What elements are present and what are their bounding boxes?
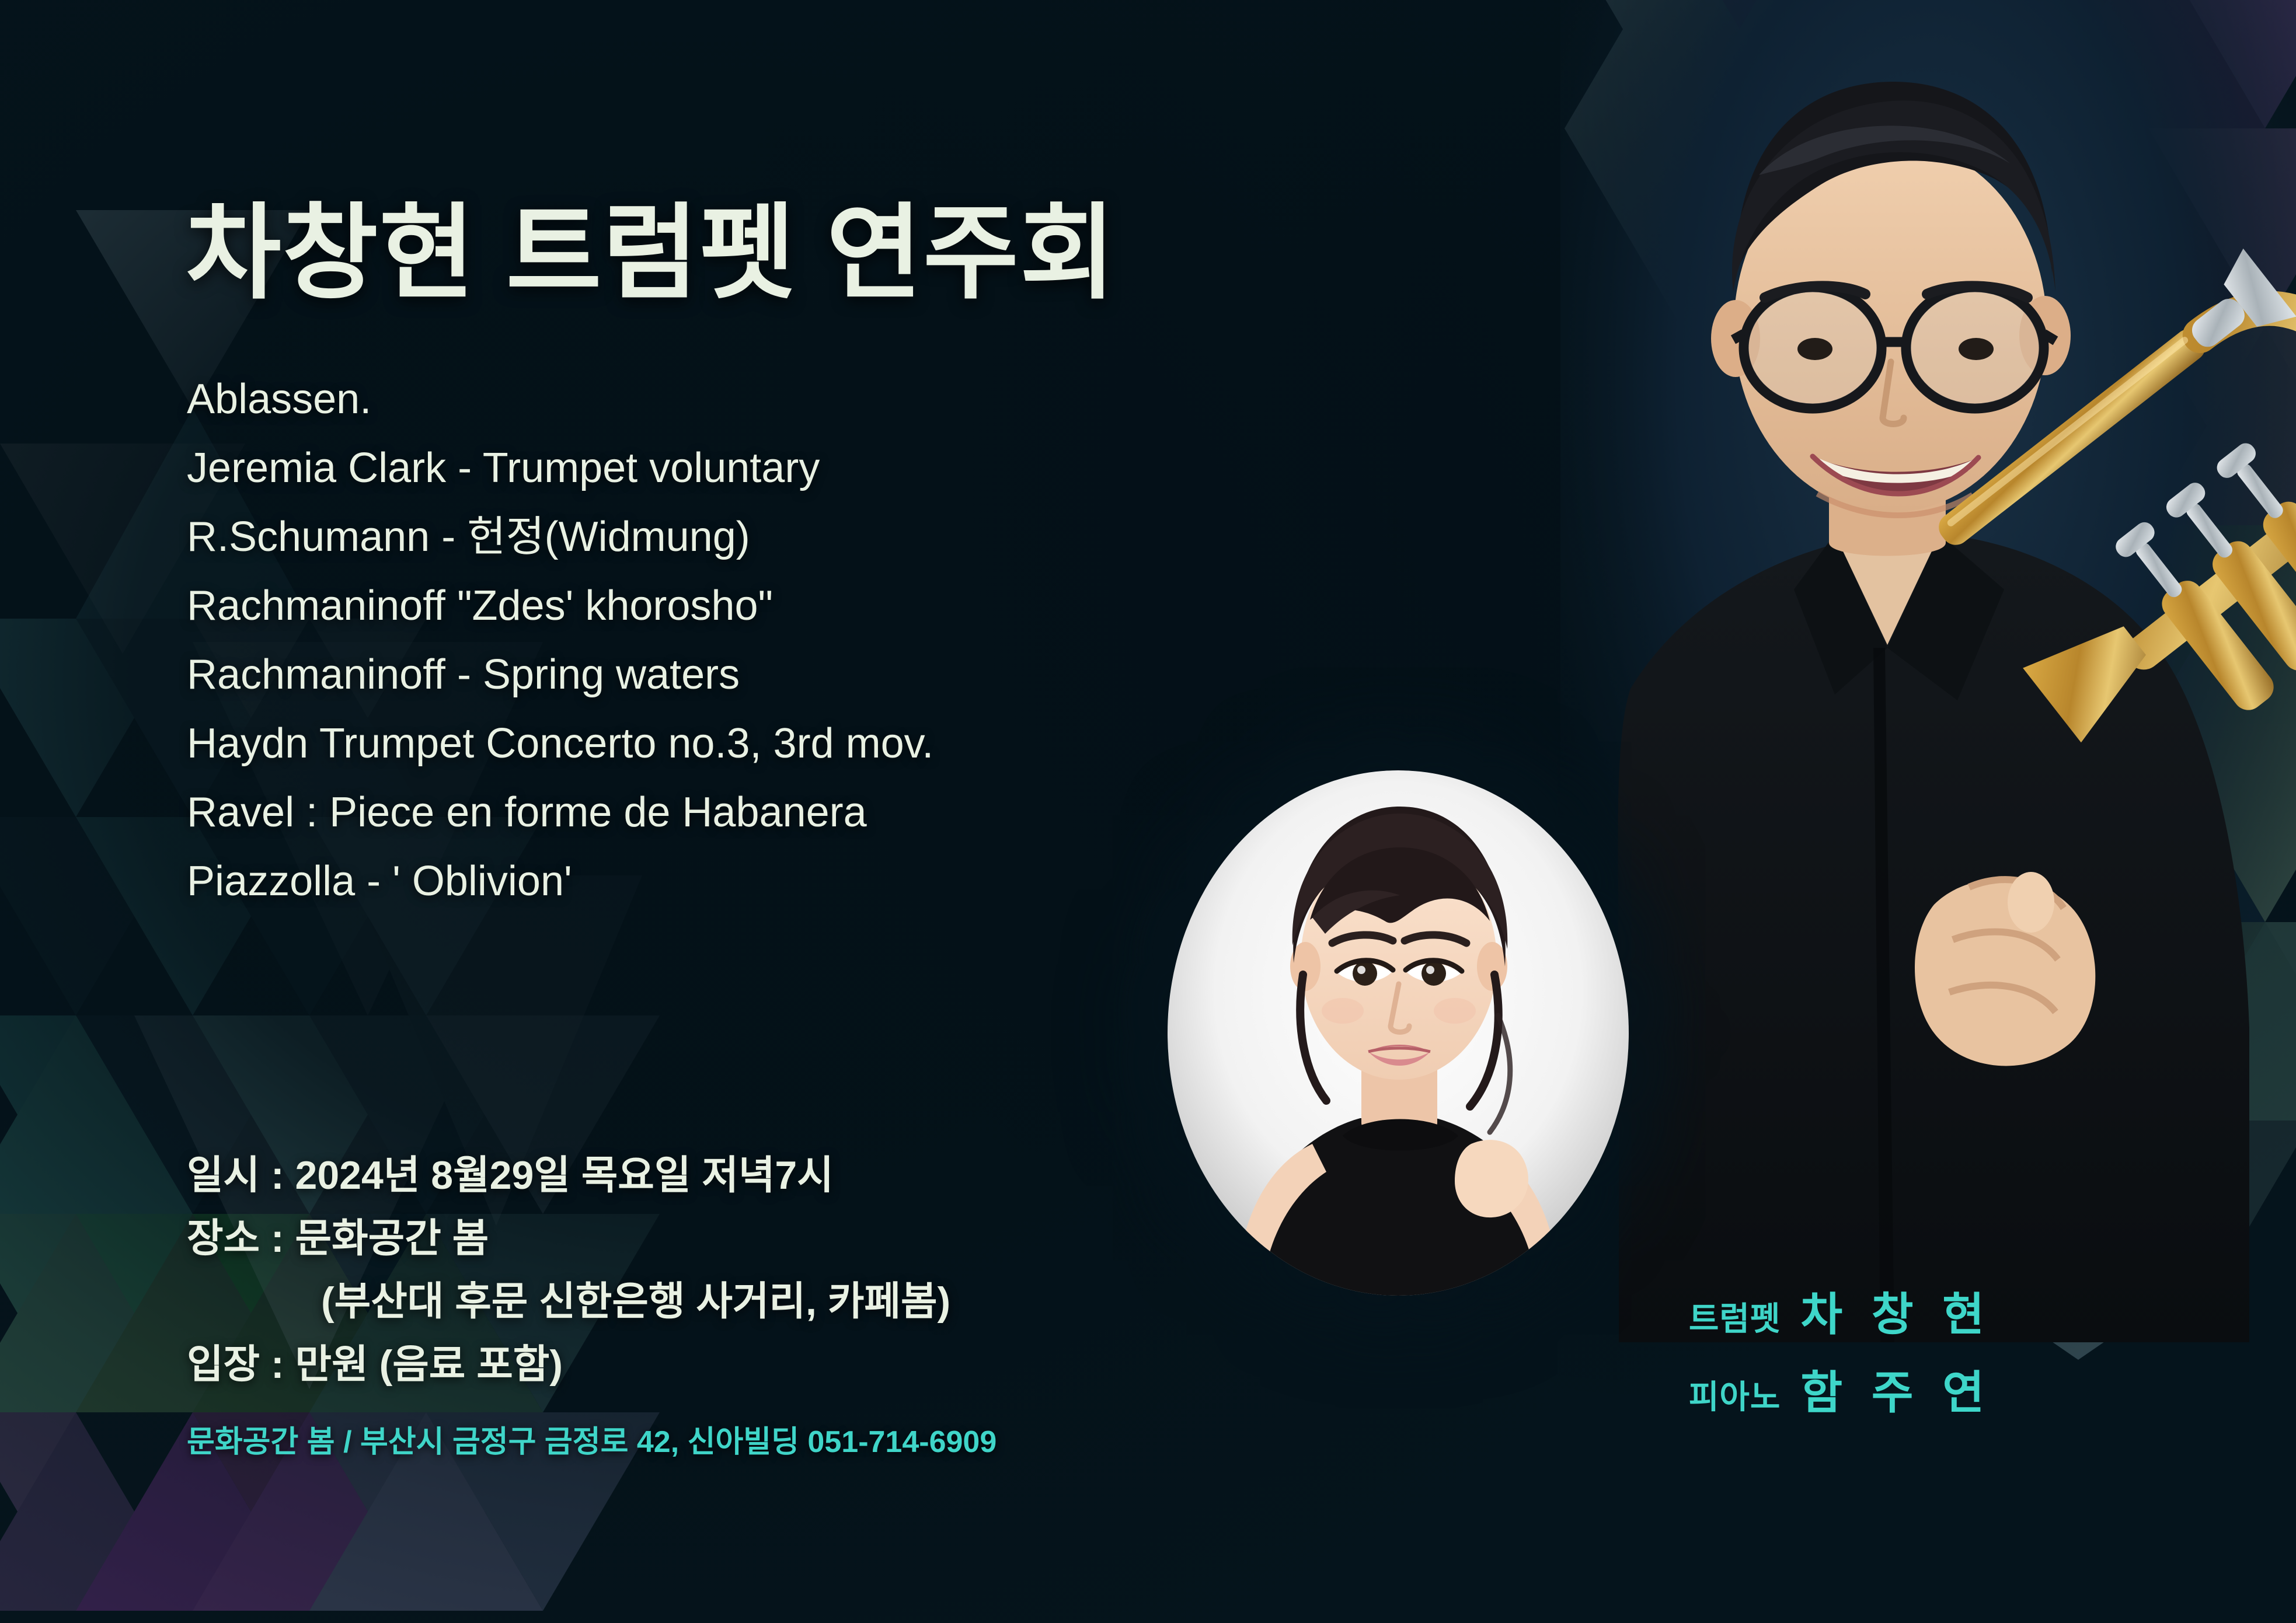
program-item: Haydn Trumpet Concerto no.3, 3rd mov. bbox=[187, 709, 1179, 778]
credit-trumpet: 트럼펫 차 창 현 bbox=[1689, 1278, 1992, 1343]
program-item: Ablassen. bbox=[187, 365, 1179, 434]
program-item: R.Schumann - 헌정(Widmung) bbox=[187, 502, 1179, 571]
detail-venue: 장소 : 문화공간 봄 bbox=[187, 1207, 1208, 1270]
program-item: Rachmaninoff - Spring waters bbox=[187, 640, 1179, 709]
page-title: 차창현 트럼펫 연주회 bbox=[186, 169, 1117, 319]
pianist-photo bbox=[1144, 770, 1646, 1307]
performer-credits: 트럼펫 차 창 현 피아노 함 주 연 bbox=[1689, 1278, 1992, 1434]
credit-name-trumpet: 차 창 현 bbox=[1800, 1278, 1992, 1343]
credit-role-trumpet: 트럼펫 bbox=[1689, 1293, 1781, 1340]
event-details: 일시 : 2024년 8월29일 목요일 저녁7시 장소 : 문화공간 봄 (부… bbox=[187, 1144, 1208, 1396]
pianist-portrait-circle bbox=[1168, 770, 1629, 1296]
pianist-illustration bbox=[1168, 770, 1629, 1296]
credit-name-piano: 함 주 연 bbox=[1800, 1356, 1992, 1422]
program-item: Piazzolla - ' Oblivion' bbox=[187, 847, 1179, 916]
program-item: Rachmaninoff "Zdes' khorosho" bbox=[187, 571, 1179, 640]
footer-contact: 문화공간 봄 / 부산시 금정구 금정로 42, 신아빌딩 051-714-69… bbox=[187, 1417, 997, 1461]
concert-poster: 차창현 트럼펫 연주회 Ablassen. Jeremia Clark - Tr… bbox=[0, 0, 2296, 1623]
credit-role-piano: 피아노 bbox=[1689, 1371, 1781, 1418]
detail-date: 일시 : 2024년 8월29일 목요일 저녁7시 bbox=[187, 1144, 1208, 1207]
program-item: Jeremia Clark - Trumpet voluntary bbox=[187, 434, 1179, 502]
detail-venue-address: (부산대 후문 신한은행 사거리, 카페봄) bbox=[187, 1270, 1208, 1333]
program-item: Ravel : Piece en forme de Habanera bbox=[187, 778, 1179, 847]
detail-admission: 입장 : 만원 (음료 포함) bbox=[187, 1333, 1208, 1396]
program-list: Ablassen. Jeremia Clark - Trumpet volunt… bbox=[187, 365, 1179, 916]
credit-piano: 피아노 함 주 연 bbox=[1689, 1356, 1992, 1422]
